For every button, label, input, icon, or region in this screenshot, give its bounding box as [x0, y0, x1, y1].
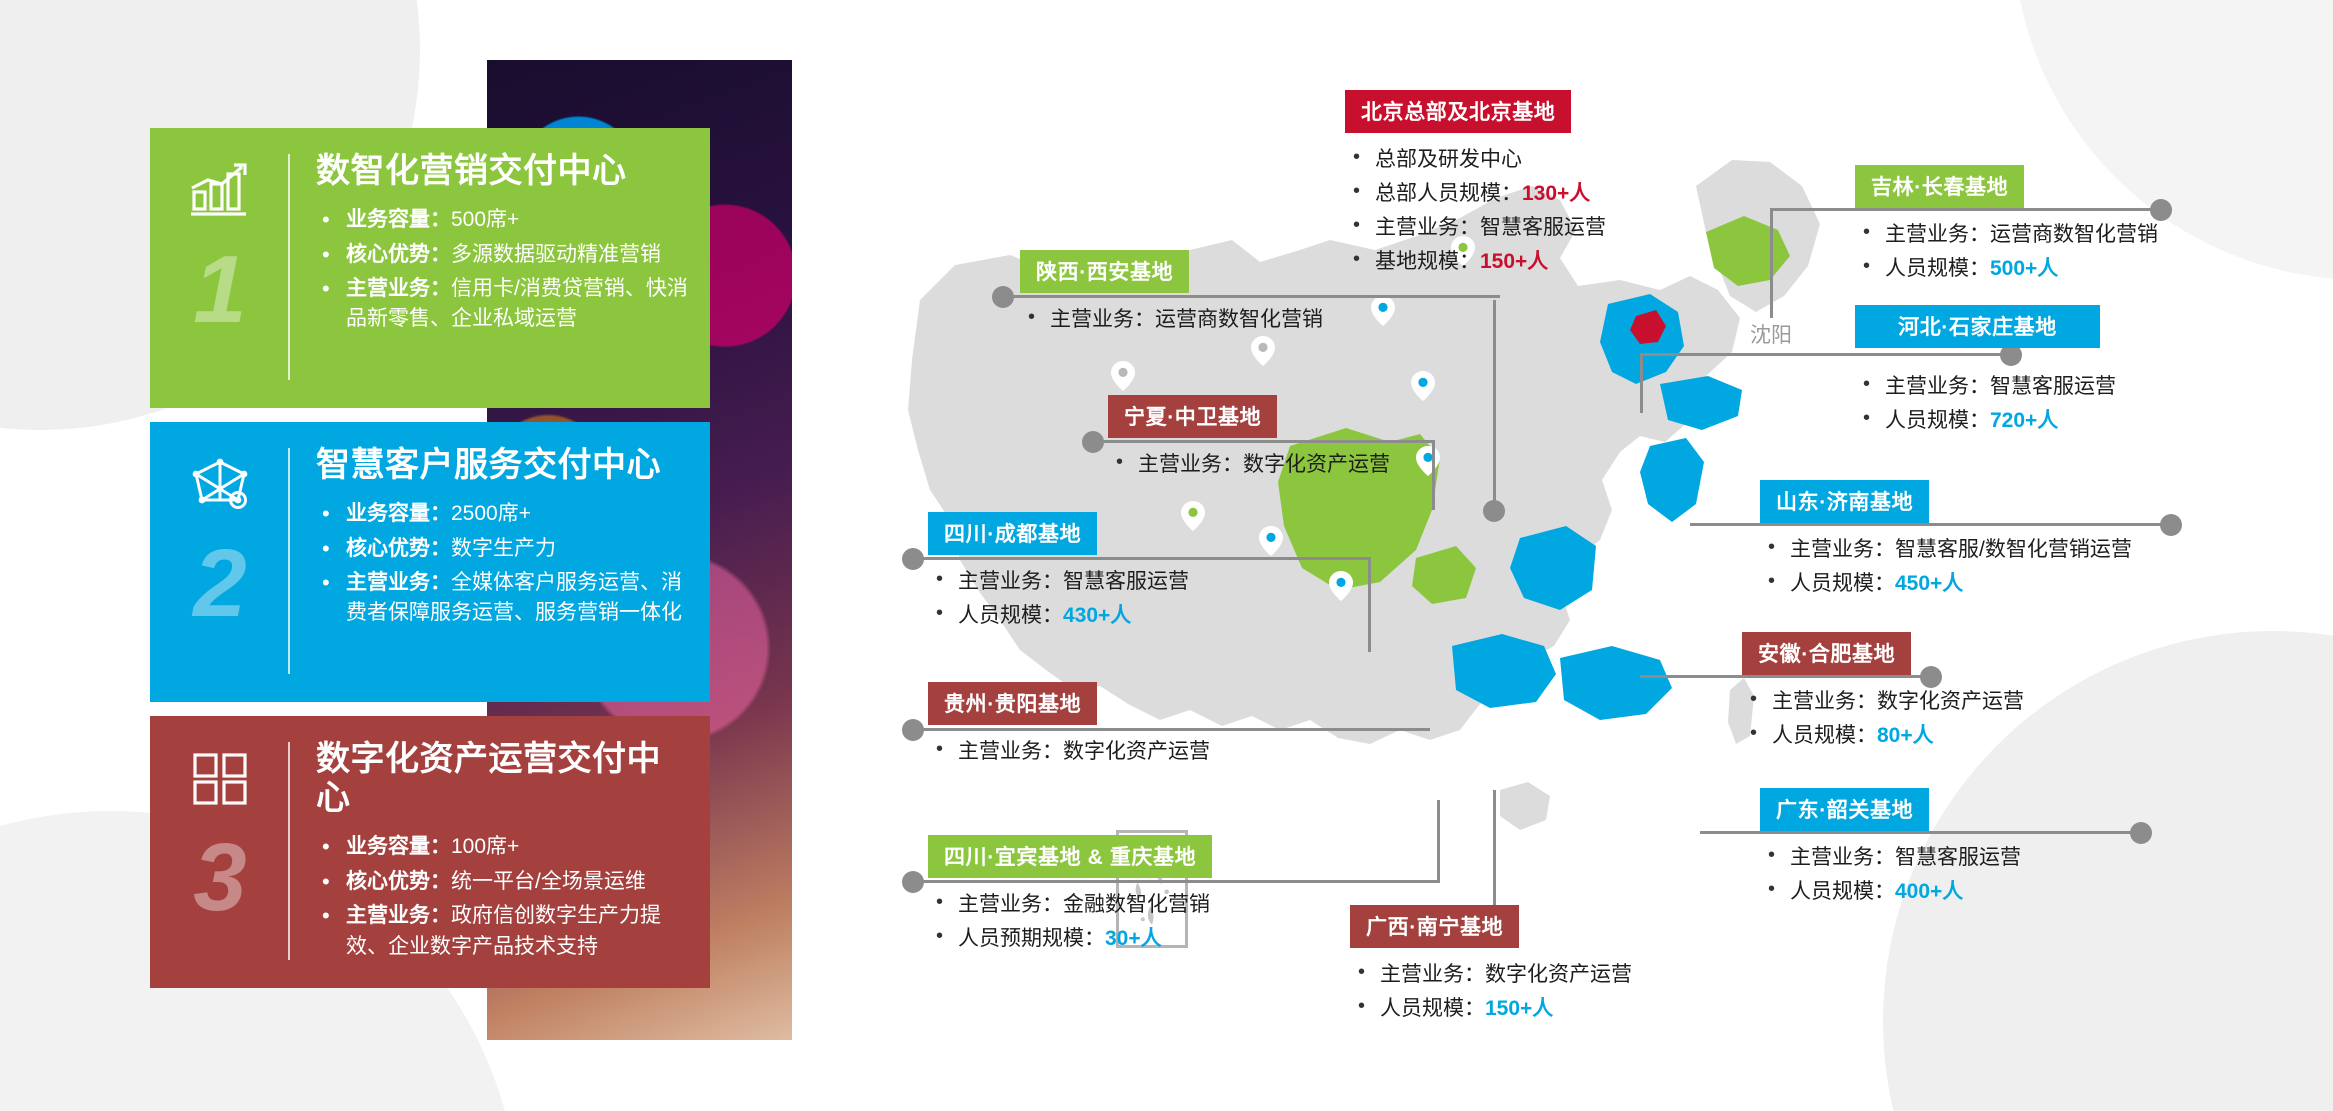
card-2-icon-column: 2: [150, 440, 290, 682]
callout-yibin-chongqing[interactable]: 四川·宜宾基地 & 重庆基地 主营业务：金融数智化营销 人员预期规模：30+人: [928, 835, 1228, 956]
card-2-content: 智慧客户服务交付中心 业务容量：2500席+ 核心优势：数字生产力 主营业务：全…: [290, 440, 710, 682]
card-2-bullet-advantage: 核心优势：数字生产力: [316, 534, 694, 564]
callout-shaoguan-line-2: 人员规模：400+人: [1760, 875, 2060, 909]
callout-beijing-line-2: 总部人员规模：130+人: [1345, 177, 1765, 211]
callout-nanning-line-2: 人员规模：150+人: [1350, 992, 1750, 1026]
card-1-divider: [288, 154, 290, 380]
leader-dot-shaoguan: [2130, 822, 2152, 844]
callout-shaoguan-title: 广东·韶关基地: [1760, 788, 1929, 831]
callout-hefei-title: 安徽·合肥基地: [1742, 632, 1911, 675]
card-3-icon-column: 3: [150, 734, 290, 968]
callout-hefei-line-2: 人员规模：80+人: [1742, 719, 2172, 753]
callout-yibin-list: 主营业务：金融数智化营销 人员预期规模：30+人: [928, 888, 1228, 956]
callout-hebei-list: 主营业务：智慧客服运营 人员规模：720+人: [1855, 370, 2275, 438]
callout-ningxia-line-1: 主营业务：数字化资产运营: [1108, 448, 1528, 482]
callout-jilin-title: 吉林·长春基地: [1855, 165, 2024, 208]
callout-shaanxi-xian[interactable]: 陕西·西安基地 主营业务：运营商数智化营销: [1020, 250, 1490, 337]
card-1-bullet-capacity: 业务容量：500席+: [316, 205, 694, 235]
callout-beijing-line-1: 总部及研发中心: [1345, 143, 1765, 177]
province-anhui: [1640, 438, 1704, 522]
leader-line-yibin-v: [1437, 800, 1440, 882]
callout-chengdu-line-1: 主营业务：智慧客服运营: [928, 565, 1228, 599]
callout-jinan-line-1: 主营业务：智慧客服/数智化营销运营: [1760, 533, 2280, 567]
callout-nanning-title: 广西·南宁基地: [1350, 905, 1519, 948]
card-1-bullet-advantage: 核心优势：多源数据驱动精准营销: [316, 240, 694, 270]
card-3-title: 数字化资产运营交付中心: [316, 740, 694, 818]
card-2-number: 2: [193, 536, 246, 632]
callout-shaanxi-line-1: 主营业务：运营商数智化营销: [1020, 303, 1490, 337]
leader-dot-ningxia: [1082, 431, 1104, 453]
leader-line-hebei-v: [1640, 353, 1643, 413]
callout-beijing-line-3: 主营业务：智慧客服运营: [1345, 211, 1765, 245]
callout-jilin-changchun[interactable]: 吉林·长春基地 主营业务：运营商数智化营销 人员规模：500+人: [1855, 165, 2275, 286]
leader-dot-beijing: [1483, 500, 1505, 522]
province-guangdong: [1560, 646, 1672, 720]
leader-line-nanning-v: [1493, 790, 1496, 920]
leader-dot-shaanxi: [992, 286, 1014, 308]
callout-sichuan-chengdu[interactable]: 四川·成都基地 主营业务：智慧客服运营 人员规模：430+人: [928, 512, 1228, 633]
card-3-divider: [288, 742, 290, 960]
callout-shaanxi-list: 主营业务：运营商数智化营销: [1020, 303, 1490, 337]
callout-guizhou-list: 主营业务：数字化资产运营: [928, 735, 1358, 769]
callout-ningxia-title: 宁夏·中卫基地: [1108, 395, 1277, 438]
location-pin-icon-guiyang: [1258, 525, 1284, 557]
callout-guangdong-shaoguan[interactable]: 广东·韶关基地 主营业务：智慧客服运营 人员规模：400+人: [1760, 788, 2060, 909]
callout-shaoguan-line-1: 主营业务：智慧客服运营: [1760, 841, 2060, 875]
cube-network-gear-icon: [188, 456, 252, 514]
callout-jilin-line-2: 人员规模：500+人: [1855, 252, 2275, 286]
callout-beijing-title: 北京总部及北京基地: [1345, 90, 1571, 133]
card-1-bullet-list: 业务容量：500席+ 核心优势：多源数据驱动精准营销 主营业务：信用卡/消费贷营…: [316, 205, 694, 335]
leader-line-jilin-v: [1770, 208, 1773, 318]
leader-dot-yibin: [902, 871, 924, 893]
callout-shaoguan-list: 主营业务：智慧客服运营 人员规模：400+人: [1760, 841, 2060, 909]
callout-guizhou-guiyang[interactable]: 贵州·贵阳基地 主营业务：数字化资产运营: [928, 682, 1358, 769]
callout-hebei-line-2: 人员规模：720+人: [1855, 404, 2275, 438]
card-3-bullet-capacity: 业务容量：100席+: [316, 832, 694, 862]
callout-ningxia-list: 主营业务：数字化资产运营: [1108, 448, 1528, 482]
card-2-bullet-list: 业务容量：2500席+ 核心优势：数字生产力 主营业务：全媒体客户服务运营、消费…: [316, 499, 694, 629]
leader-line-chengdu-v: [1368, 557, 1371, 652]
callout-nanning-list: 主营业务：数字化资产运营 人员规模：150+人: [1350, 958, 1750, 1026]
callout-hebei-line-1: 主营业务：智慧客服运营: [1855, 370, 2275, 404]
callout-chengdu-line-2: 人员规模：430+人: [928, 599, 1228, 633]
card-1-title: 数智化营销交付中心: [316, 152, 694, 191]
leader-dot-chengdu: [902, 548, 924, 570]
callout-shandong-jinan[interactable]: 山东·济南基地 主营业务：智慧客服/数智化营销运营 人员规模：450+人: [1760, 480, 2280, 601]
callout-anhui-hefei[interactable]: 安徽·合肥基地 主营业务：数字化资产运营 人员规模：80+人: [1742, 632, 2172, 753]
card-1-content: 数智化营销交付中心 业务容量：500席+ 核心优势：多源数据驱动精准营销 主营业…: [290, 146, 710, 388]
callout-guizhou-line-1: 主营业务：数字化资产运营: [928, 735, 1358, 769]
callout-jilin-line-1: 主营业务：运营商数智化营销: [1855, 218, 2275, 252]
callout-hebei-shijiazhuang[interactable]: 河北·石家庄基地 主营业务：智慧客服运营 人员规模：720+人: [1855, 305, 2275, 438]
four-squares-grid-icon: [188, 750, 252, 808]
location-pin-icon-beijing: [1250, 335, 1276, 367]
card-2-title: 智慧客户服务交付中心: [316, 446, 694, 485]
callout-hebei-title: 河北·石家庄基地: [1855, 305, 2100, 348]
callout-jinan-title: 山东·济南基地: [1760, 480, 1929, 523]
callout-jilin-list: 主营业务：运营商数智化营销 人员规模：500+人: [1855, 218, 2275, 286]
callout-hefei-list: 主营业务：数字化资产运营 人员规模：80+人: [1742, 685, 2172, 753]
callout-yibin-title: 四川·宜宾基地 & 重庆基地: [928, 835, 1212, 878]
callout-yibin-line-2: 人员预期规模：30+人: [928, 922, 1228, 956]
delivery-center-card-2[interactable]: 2 智慧客户服务交付中心 业务容量：2500席+ 核心优势：数字生产力 主营业务…: [150, 422, 710, 702]
callout-guizhou-title: 贵州·贵阳基地: [928, 682, 1097, 725]
card-3-bullet-list: 业务容量：100席+ 核心优势：统一平台/全场景运维 主营业务：政府信创数字生产…: [316, 832, 694, 962]
bar-chart-growth-icon: [188, 162, 252, 220]
callout-hefei-line-1: 主营业务：数字化资产运营: [1742, 685, 2172, 719]
card-1-number: 1: [193, 242, 246, 338]
delivery-center-card-3[interactable]: 3 数字化资产运营交付中心 业务容量：100席+ 核心优势：统一平台/全场景运维…: [150, 716, 710, 988]
card-3-number: 3: [193, 830, 246, 926]
callout-nanning-line-1: 主营业务：数字化资产运营: [1350, 958, 1750, 992]
map-city-label-shenyang: 沈阳: [1750, 324, 1792, 347]
location-pin-icon-zhongwei: [1110, 360, 1136, 392]
card-1-icon-column: 1: [150, 146, 290, 388]
card-2-bullet-capacity: 业务容量：2500席+: [316, 499, 694, 529]
card-3-content: 数字化资产运营交付中心 业务容量：100席+ 核心优势：统一平台/全场景运维 主…: [290, 734, 710, 968]
slide-canvas: 1 数智化营销交付中心 业务容量：500席+ 核心优势：多源数据驱动精准营销 主…: [0, 0, 2333, 1111]
card-1-bullet-business: 主营业务：信用卡/消费贷营销、快消品新零售、企业私域运营: [316, 274, 694, 335]
card-3-bullet-business: 主营业务：政府信创数字生产力提效、企业数字产品技术支持: [316, 901, 694, 962]
leader-dot-guizhou: [902, 719, 924, 741]
callout-chengdu-title: 四川·成都基地: [928, 512, 1097, 555]
callout-jinan-list: 主营业务：智慧客服/数智化营销运营 人员规模：450+人: [1760, 533, 2280, 601]
callout-shaanxi-title: 陕西·西安基地: [1020, 250, 1189, 293]
location-pin-icon-shaoguan: [1328, 570, 1354, 602]
callout-ningxia-zhongwei[interactable]: 宁夏·中卫基地 主营业务：数字化资产运营: [1108, 395, 1528, 482]
card-2-divider: [288, 448, 290, 674]
card-3-bullet-advantage: 核心优势：统一平台/全场景运维: [316, 867, 694, 897]
delivery-center-card-1[interactable]: 1 数智化营销交付中心 业务容量：500席+ 核心优势：多源数据驱动精准营销 主…: [150, 128, 710, 408]
callout-jinan-line-2: 人员规模：450+人: [1760, 567, 2280, 601]
callout-yibin-line-1: 主营业务：金融数智化营销: [928, 888, 1228, 922]
card-2-bullet-business: 主营业务：全媒体客户服务运营、消费者保障服务运营、服务营销一体化: [316, 568, 694, 629]
callout-guangxi-nanning[interactable]: 广西·南宁基地 主营业务：数字化资产运营 人员规模：150+人: [1350, 905, 1750, 1026]
callout-chengdu-list: 主营业务：智慧客服运营 人员规模：430+人: [928, 565, 1228, 633]
